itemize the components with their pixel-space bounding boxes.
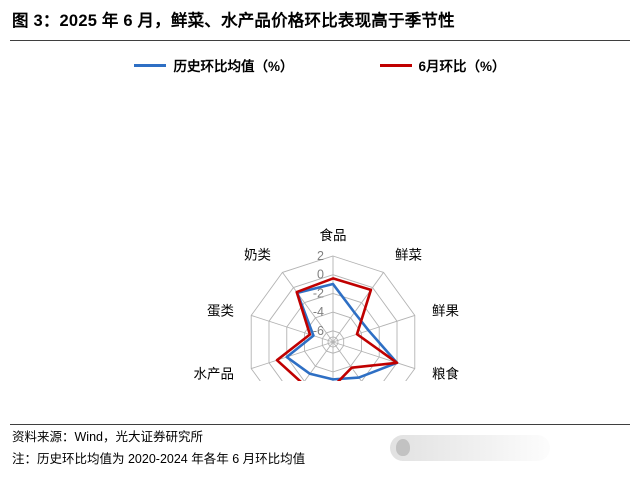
radar-category-label: 蛋类 — [207, 304, 234, 319]
footer-divider — [10, 424, 630, 425]
radar-category-label: 奶类 — [244, 248, 271, 263]
radar-chart-svg: 20-2-4-6食品鲜菜鲜果粮食猪肉牛肉羊肉水产品蛋类奶类 — [0, 71, 640, 381]
radial-tick-label: -6 — [313, 324, 324, 338]
radial-tick-label: 0 — [317, 268, 324, 282]
radial-tick-label: -4 — [313, 305, 324, 319]
note-text: 注：历史环比均值为 2020-2024 年各年 6 月环比均值 — [12, 449, 305, 471]
title-block: 图 3：2025 年 6 月，鲜菜、水产品价格环比表现高于季节性 — [0, 0, 640, 32]
radial-tick-label: 2 — [317, 249, 324, 263]
source-text: 资料来源：Wind，光大证券研究所 — [12, 427, 305, 449]
radar-category-label: 鲜菜 — [395, 248, 422, 263]
radar-chart: 20-2-4-6食品鲜菜鲜果粮食猪肉牛肉羊肉水产品蛋类奶类 — [0, 77, 640, 377]
legend-swatch-icon-jun — [380, 64, 412, 67]
page-title: 图 3：2025 年 6 月，鲜菜、水产品价格环比表现高于季节性 — [12, 10, 628, 32]
radial-tick-label: -2 — [313, 287, 324, 301]
footer-block: 资料来源：Wind，光大证券研究所 注：历史环比均值为 2020-2024 年各… — [12, 427, 305, 471]
radar-category-label: 水产品 — [194, 367, 235, 382]
radar-category-label: 食品 — [320, 227, 347, 243]
legend-swatch-icon-hist — [134, 64, 166, 67]
radar-category-label: 粮食 — [432, 366, 459, 382]
figure-page: 图 3：2025 年 6 月，鲜菜、水产品价格环比表现高于季节性 历史环比均值（… — [0, 0, 640, 479]
watermark-overlay — [390, 435, 550, 461]
title-divider — [10, 40, 630, 41]
radar-category-label: 鲜果 — [432, 304, 459, 319]
